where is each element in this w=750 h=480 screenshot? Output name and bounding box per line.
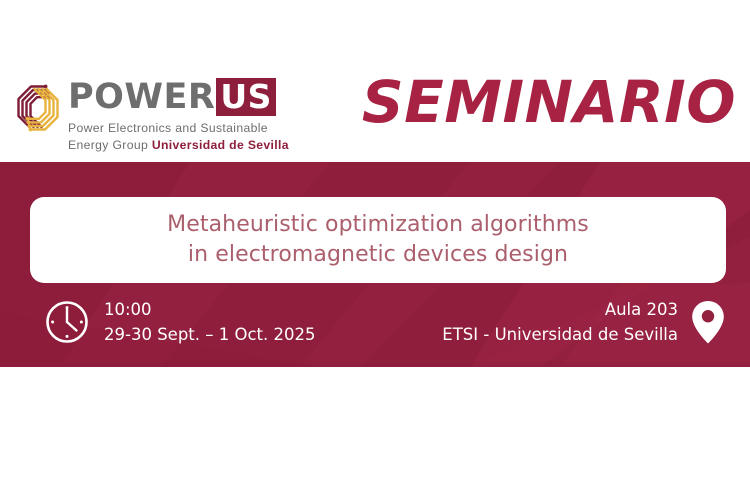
wordmark-power: POWER bbox=[68, 80, 215, 115]
wordmark-us-box: US bbox=[216, 78, 276, 116]
powerus-logo: POWER US Power Electronics and Sustainab… bbox=[14, 78, 289, 154]
seminar-when-block: 10:00 29-30 Sept. – 1 Oct. 2025 bbox=[44, 297, 316, 347]
seminar-room: Aula 203 bbox=[442, 297, 678, 322]
seminar-info-row: 10:00 29-30 Sept. – 1 Oct. 2025 Aula 203… bbox=[0, 297, 750, 359]
seminar-dates: 29-30 Sept. – 1 Oct. 2025 bbox=[104, 322, 316, 347]
seminar-when-text: 10:00 29-30 Sept. – 1 Oct. 2025 bbox=[104, 297, 316, 347]
powerus-logo-text: POWER US Power Electronics and Sustainab… bbox=[68, 78, 289, 154]
seminar-title-line-1: Metaheuristic optimization algorithms bbox=[167, 210, 589, 240]
seminar-time: 10:00 bbox=[104, 297, 316, 322]
seminar-poster: POWER US Power Electronics and Sustainab… bbox=[0, 0, 750, 480]
logo-tagline-line-1: Power Electronics and Sustainable bbox=[68, 120, 268, 137]
poster-header: POWER US Power Electronics and Sustainab… bbox=[0, 0, 750, 162]
map-pin-icon bbox=[688, 298, 728, 346]
powerus-wordmark: POWER US bbox=[68, 78, 276, 116]
seminar-title-card: Metaheuristic optimization algorithms in… bbox=[30, 197, 726, 283]
logo-tagline-line-2: Energy Group Universidad de Sevilla bbox=[68, 137, 289, 154]
logo-tagline-line-2-strong: Universidad de Sevilla bbox=[152, 138, 289, 152]
wordmark-us: US bbox=[220, 77, 272, 116]
powerus-coil-logo-icon bbox=[14, 80, 62, 136]
seminar-title-line-2: in electromagnetic devices design bbox=[188, 240, 568, 270]
clock-icon bbox=[44, 299, 90, 345]
seminar-where-block: Aula 203 ETSI - Universidad de Sevilla bbox=[442, 297, 728, 347]
poster-footer-whitespace bbox=[0, 367, 750, 480]
seminar-where-text: Aula 203 ETSI - Universidad de Sevilla bbox=[442, 297, 678, 347]
seminario-banner-label: SEMINARIO bbox=[362, 73, 736, 131]
logo-tagline-line-2-plain: Energy Group bbox=[68, 138, 152, 152]
seminar-venue: ETSI - Universidad de Sevilla bbox=[442, 322, 678, 347]
maroon-band: Metaheuristic optimization algorithms in… bbox=[0, 162, 750, 367]
